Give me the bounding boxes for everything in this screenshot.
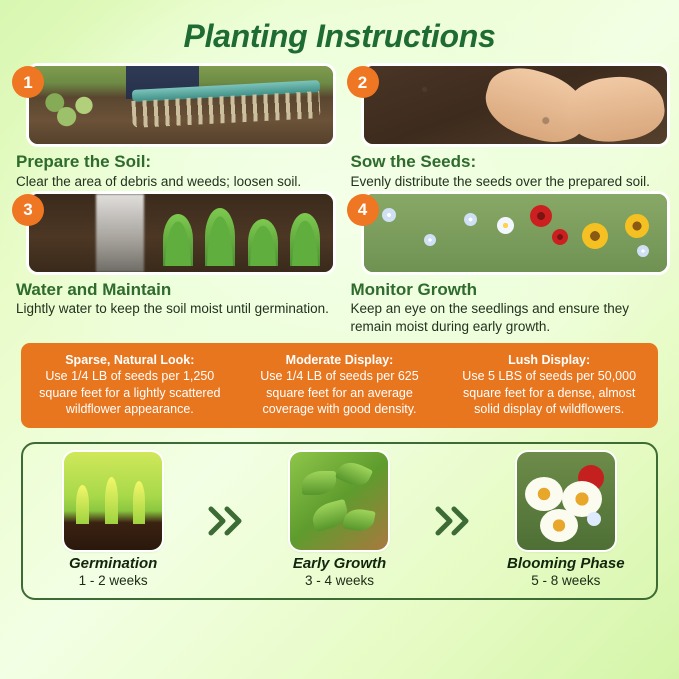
- step-description-2: Evenly distribute the seeds over the pre…: [351, 173, 668, 190]
- step-title-3: Water and Maintain: [16, 280, 333, 300]
- step-description-3: Lightly water to keep the soil moist unt…: [16, 300, 333, 317]
- step-title-4: Monitor Growth: [351, 280, 668, 300]
- step-image-4: [364, 194, 668, 272]
- coverage-body-sparse: Use 1/4 LB of seeds per 1,250 square fee…: [33, 368, 227, 418]
- step-badge-3: 3: [12, 194, 44, 226]
- step-image-1: [29, 66, 333, 144]
- coverage-title-lush: Lush Display:: [452, 352, 646, 368]
- step-card-3: 3 Water and Maintain Lightly water to ke…: [12, 194, 333, 335]
- timeline-duration-blooming-phase: 5 - 8 weeks: [482, 572, 650, 590]
- growth-timeline: Germination 1 - 2 weeks Early Growth 3 -…: [21, 442, 658, 600]
- timeline-name-blooming-phase: Blooming Phase: [482, 555, 650, 572]
- young-plant-illustration: [290, 452, 388, 550]
- double-chevron-right-icon: [434, 504, 472, 538]
- step-description-1: Clear the area of debris and weeds; loos…: [16, 173, 333, 190]
- coverage-title-sparse: Sparse, Natural Look:: [33, 352, 227, 368]
- coverage-banner: Sparse, Natural Look: Use 1/4 LB of seed…: [21, 343, 658, 428]
- timeline-arrow-1: [197, 504, 255, 538]
- steps-grid: 1 Prepare the Soil: Clear the area of de…: [0, 52, 679, 335]
- timeline-image-germination: [64, 452, 162, 550]
- step-badge-1: 1: [12, 66, 44, 98]
- timeline-image-early-growth: [290, 452, 388, 550]
- page-title: Planting Instructions: [0, 0, 679, 52]
- step-image-2: [364, 66, 668, 144]
- step-title-2: Sow the Seeds:: [351, 152, 668, 172]
- watering-seedlings-illustration: [29, 194, 333, 272]
- blooming-flowers-illustration: [517, 452, 615, 550]
- step-badge-2: 2: [347, 66, 379, 98]
- step-image-3: [29, 194, 333, 272]
- step-badge-4: 4: [347, 194, 379, 226]
- wildflower-field-illustration: [364, 194, 668, 272]
- timeline-name-germination: Germination: [29, 555, 197, 572]
- coverage-title-moderate: Moderate Display:: [243, 352, 437, 368]
- timeline-image-blooming-phase: [517, 452, 615, 550]
- coverage-option-lush: Lush Display: Use 5 LBS of seeds per 50,…: [444, 352, 654, 418]
- timeline-stage-germination: Germination 1 - 2 weeks: [29, 452, 197, 590]
- infographic-root: Planting Instructions 1 Prepare the Soil…: [0, 0, 679, 600]
- seedlings-illustration: [64, 452, 162, 550]
- step-card-1: 1 Prepare the Soil: Clear the area of de…: [12, 66, 333, 190]
- step-title-1: Prepare the Soil:: [16, 152, 333, 172]
- step-card-4: 4 Monitor Growth Keep an eye on the seed…: [347, 194, 668, 335]
- rake-soil-illustration: [29, 66, 333, 144]
- timeline-stage-early-growth: Early Growth 3 - 4 weeks: [255, 452, 423, 590]
- timeline-duration-germination: 1 - 2 weeks: [29, 572, 197, 590]
- coverage-body-moderate: Use 1/4 LB of seeds per 625 square feet …: [243, 368, 437, 418]
- timeline-arrow-2: [424, 504, 482, 538]
- coverage-option-sparse: Sparse, Natural Look: Use 1/4 LB of seed…: [25, 352, 235, 418]
- step-description-4: Keep an eye on the seedlings and ensure …: [351, 300, 668, 335]
- timeline-name-early-growth: Early Growth: [255, 555, 423, 572]
- coverage-body-lush: Use 5 LBS of seeds per 50,000 square fee…: [452, 368, 646, 418]
- timeline-stage-blooming-phase: Blooming Phase 5 - 8 weeks: [482, 452, 650, 590]
- coverage-option-moderate: Moderate Display: Use 1/4 LB of seeds pe…: [235, 352, 445, 418]
- hands-seeding-illustration: [364, 66, 668, 144]
- step-card-2: 2 Sow the Seeds: Evenly distribute the s…: [347, 66, 668, 190]
- timeline-duration-early-growth: 3 - 4 weeks: [255, 572, 423, 590]
- double-chevron-right-icon: [207, 504, 245, 538]
